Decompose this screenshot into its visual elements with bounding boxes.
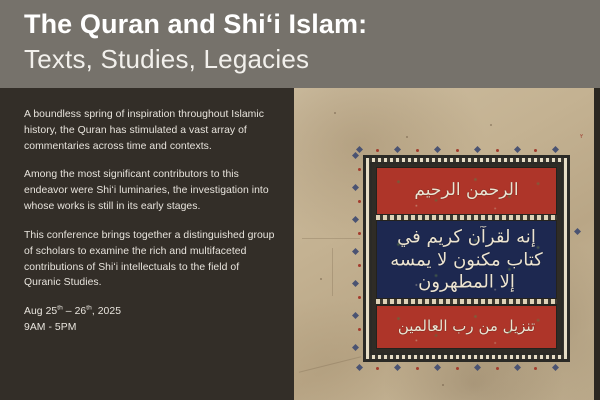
calligraphy-panel-middle: إنه لقرآن كريم في كتاب مكنون لا يمسه إلا… bbox=[376, 220, 557, 300]
event-date-line: Aug 25th – 26th, 2025 bbox=[24, 306, 121, 317]
parchment-speck bbox=[490, 124, 492, 126]
parchment-crease bbox=[332, 248, 333, 296]
description-column: A boundless spring of inspiration throug… bbox=[0, 88, 294, 400]
page-subtitle: Texts, Studies, Legacies bbox=[24, 44, 600, 75]
margin-dot-icon bbox=[456, 149, 459, 152]
event-date-dash: – bbox=[63, 306, 75, 317]
margin-dot-icon bbox=[496, 367, 499, 370]
event-day-start: 25 bbox=[46, 306, 58, 317]
margin-dot-icon bbox=[358, 264, 361, 267]
margin-dot-icon bbox=[496, 149, 499, 152]
panel-top-script: الرحمن الرحيم bbox=[384, 182, 549, 200]
event-month: Aug bbox=[24, 306, 43, 317]
folio-number: ٢ bbox=[580, 133, 583, 140]
margin-dot-icon bbox=[416, 149, 419, 152]
event-datetime: Aug 25th – 26th, 2025 9AM - 5PM bbox=[24, 304, 276, 335]
frame-inner: الرحمن الرحيم إنه لقرآن كريم في كتاب مكن… bbox=[370, 162, 563, 355]
event-time: 9AM - 5PM bbox=[24, 320, 276, 336]
margin-dot-icon bbox=[358, 200, 361, 203]
manuscript-image: ٢ bbox=[294, 88, 594, 400]
margin-dot-icon bbox=[376, 149, 379, 152]
calligraphy-panel-bottom: تنزيل من رب العالمين bbox=[376, 305, 557, 349]
margin-dot-icon bbox=[358, 328, 361, 331]
margin-dot-icon bbox=[358, 232, 361, 235]
margin-dot-icon bbox=[358, 296, 361, 299]
margin-dot-icon bbox=[358, 168, 361, 171]
margin-dot-icon bbox=[534, 149, 537, 152]
parchment-speck bbox=[334, 112, 336, 114]
conference-poster: The Quran and Shiʻi Islam: Texts, Studie… bbox=[0, 0, 600, 400]
paragraph-2: Among the most significant contributors … bbox=[24, 167, 276, 214]
parchment-crease bbox=[302, 238, 360, 239]
panel-divider-band bbox=[376, 298, 557, 305]
illuminated-frame: الرحمن الرحيم إنه لقرآن كريم في كتاب مكن… bbox=[363, 155, 570, 362]
page-title: The Quran and Shiʻi Islam: bbox=[24, 9, 600, 41]
parchment-speck bbox=[442, 384, 444, 386]
margin-dot-icon bbox=[456, 367, 459, 370]
margin-dot-icon bbox=[376, 367, 379, 370]
panel-middle-script: إنه لقرآن كريم في كتاب مكنون لا يمسه إلا… bbox=[384, 226, 549, 294]
right-edge-strip bbox=[594, 88, 600, 400]
event-day-end: 26 bbox=[75, 306, 87, 317]
margin-dot-icon bbox=[534, 367, 537, 370]
poster-header: The Quran and Shiʻi Islam: Texts, Studie… bbox=[0, 0, 600, 88]
panel-bottom-script: تنزيل من رب العالمين bbox=[384, 319, 549, 335]
parchment-speck bbox=[320, 278, 322, 280]
parchment-speck bbox=[406, 136, 408, 138]
margin-dot-icon bbox=[416, 367, 419, 370]
calligraphy-panel-top: الرحمن الرحيم bbox=[376, 167, 557, 215]
event-year: , 2025 bbox=[92, 306, 121, 317]
paragraph-1: A boundless spring of inspiration throug… bbox=[24, 107, 276, 154]
paragraph-3: This conference brings together a distin… bbox=[24, 228, 276, 291]
